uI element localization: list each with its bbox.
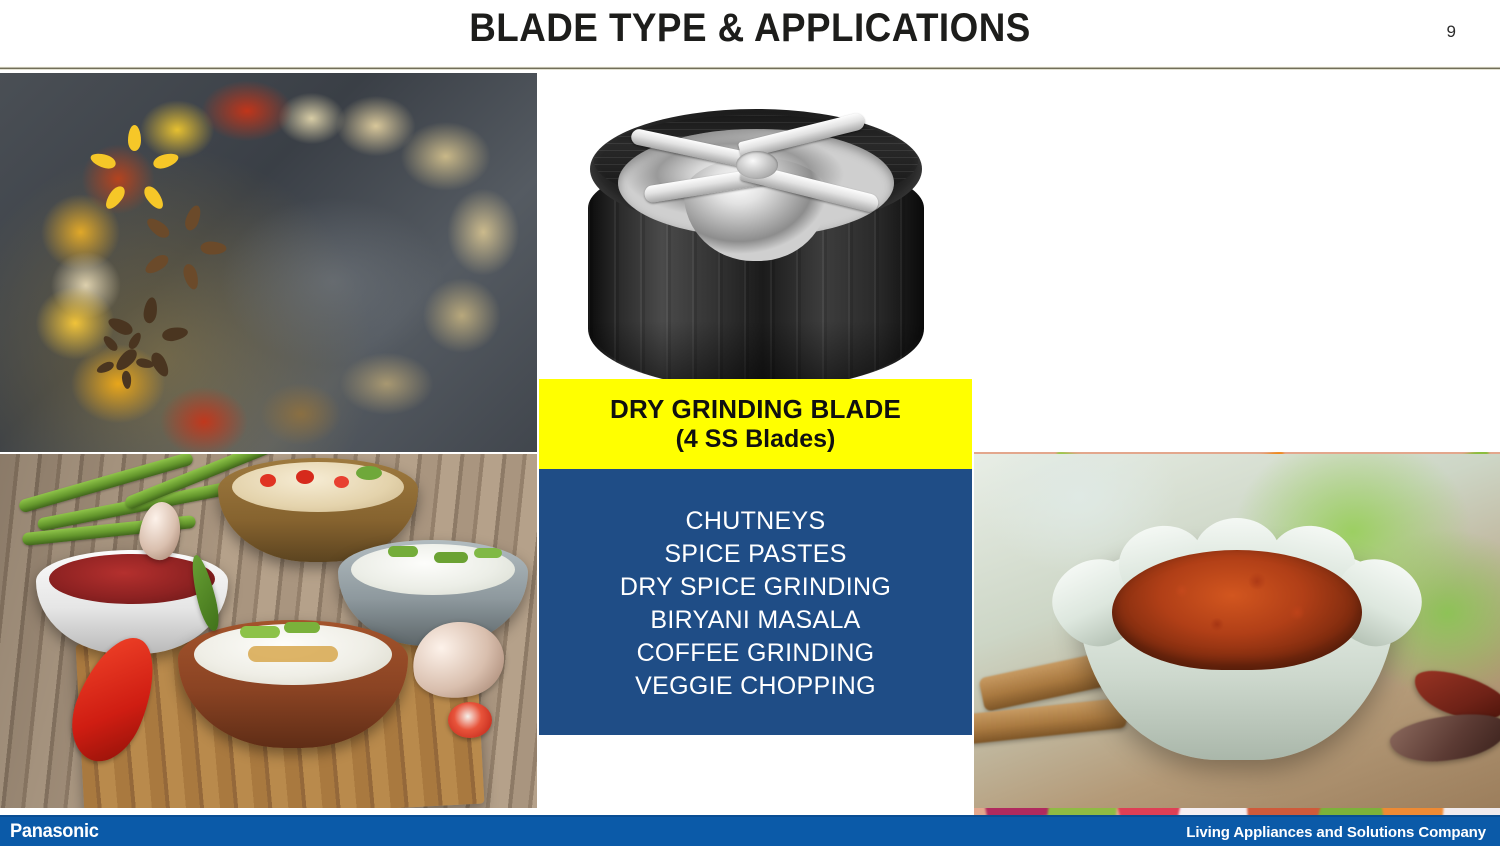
blade-type-banner: DRY GRINDING BLADE (4 SS Blades) <box>539 379 972 469</box>
slide-number: 9 <box>1447 22 1456 42</box>
dried-chili-2 <box>1388 708 1500 768</box>
slide-footer: Panasonic Living Appliances and Solution… <box>0 815 1500 846</box>
blade-assembly <box>588 99 924 399</box>
image-masala-paste-bowl <box>974 454 1500 808</box>
masala-paste-fill <box>1112 550 1362 670</box>
application-item: DRY SPICE GRINDING <box>620 571 891 604</box>
slide-header: BLADE TYPE & APPLICATIONS 9 <box>0 0 1500 68</box>
footer-tagline: Living Appliances and Solutions Company <box>1186 824 1486 841</box>
banner-subtitle: (4 SS Blades) <box>676 425 836 455</box>
application-item: BIRYANI MASALA <box>650 604 860 637</box>
applications-panel: CHUTNEYS SPICE PASTES DRY SPICE GRINDING… <box>539 469 972 735</box>
image-chutney-bowls <box>0 454 537 808</box>
application-item: VEGGIE CHOPPING <box>635 670 876 703</box>
image-spices-wreath <box>0 73 537 452</box>
application-item: COFFEE GRINDING <box>637 637 875 670</box>
blade-center-hub <box>736 151 778 179</box>
chili-slice <box>448 702 492 738</box>
application-item: SPICE PASTES <box>664 538 846 571</box>
panasonic-logo: Panasonic <box>10 821 99 843</box>
header-divider-rule <box>0 66 1500 70</box>
lotus-bowl <box>1078 542 1396 760</box>
page-title: BLADE TYPE & APPLICATIONS <box>60 6 1440 51</box>
application-item: CHUTNEYS <box>686 505 826 538</box>
banner-title: DRY GRINDING BLADE <box>610 394 901 425</box>
